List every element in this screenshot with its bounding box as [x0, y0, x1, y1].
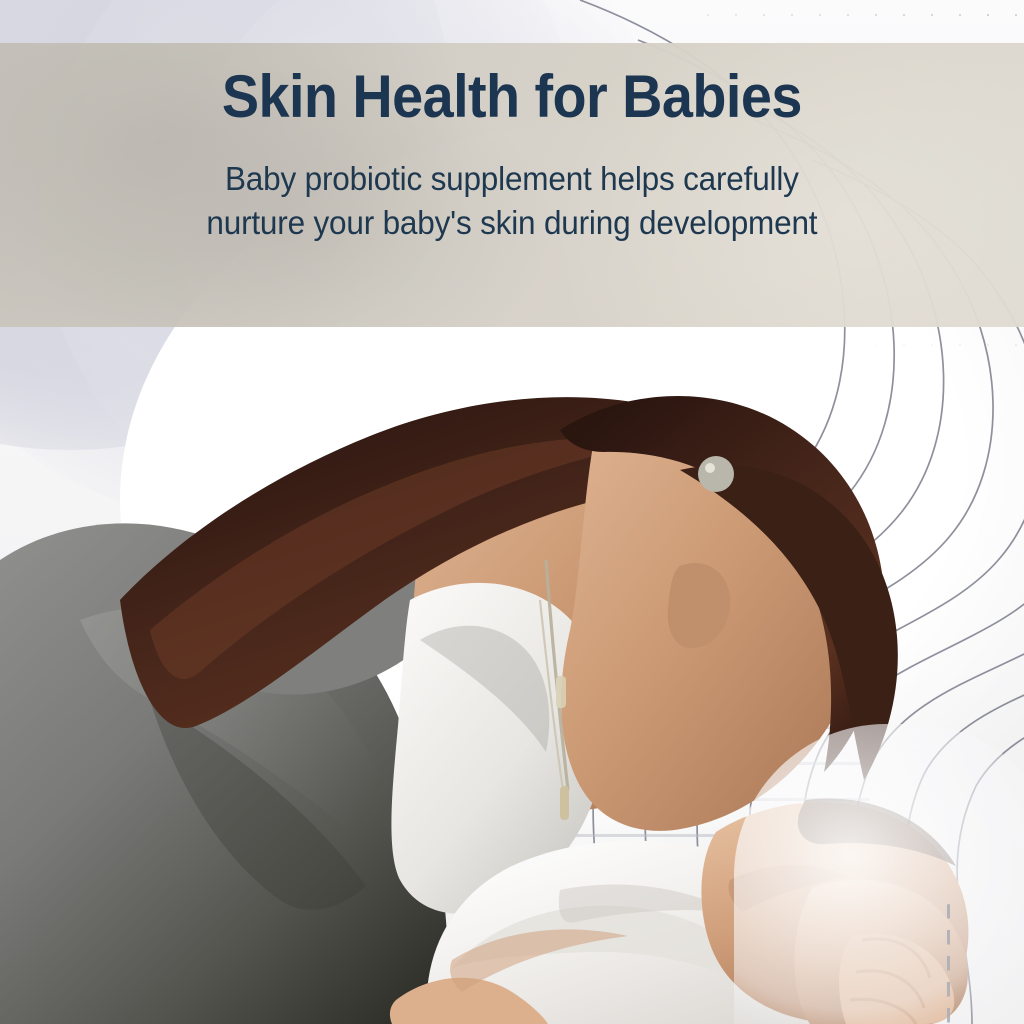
banner-text-block: Skin Health for Babies Baby probiotic su…	[0, 43, 1024, 327]
bottom-right-light-panel	[734, 724, 1024, 1024]
subtitle-line-2: nurture your baby's skin during developm…	[207, 201, 818, 245]
hair-tie	[698, 456, 734, 492]
dashed-vertical-accent	[947, 904, 950, 1024]
subtitle-line-1: Baby probiotic supplement helps carefull…	[207, 157, 818, 201]
page-title: Skin Health for Babies	[222, 67, 802, 127]
hair-tie-sparkle	[705, 463, 715, 473]
page-subtitle: Baby probiotic supplement helps carefull…	[207, 157, 818, 244]
hero-image-canvas: Skin Health for Babies Baby probiotic su…	[0, 0, 1024, 1024]
